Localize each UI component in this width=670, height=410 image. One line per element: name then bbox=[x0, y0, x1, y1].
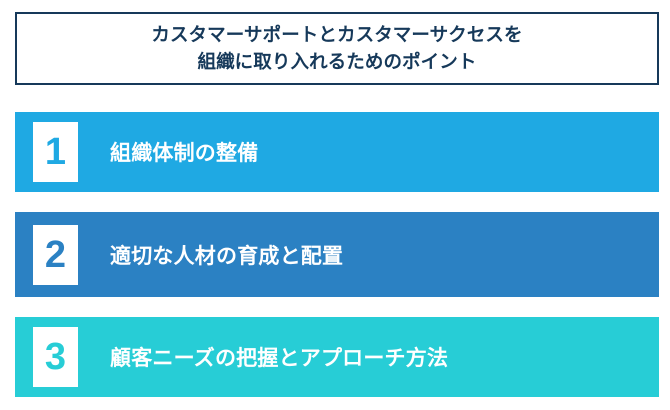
point-row-1: 1 組織体制の整備 bbox=[15, 112, 659, 192]
point-row-3: 3 顧客ニーズの把握とアプローチ方法 bbox=[15, 317, 659, 397]
page-title: カスタマーサポートとカスタマーサクセスを 組織に取り入れるためのポイント bbox=[151, 22, 522, 76]
point-number-1: 1 bbox=[45, 133, 66, 171]
infographic-canvas: カスタマーサポートとカスタマーサクセスを 組織に取り入れるためのポイント 1 組… bbox=[0, 0, 670, 410]
point-label-1: 組織体制の整備 bbox=[110, 137, 258, 167]
point-number-3: 3 bbox=[45, 338, 66, 376]
point-number-box-2: 2 bbox=[33, 225, 78, 285]
point-row-2: 2 適切な人材の育成と配置 bbox=[15, 212, 659, 297]
point-number-box-1: 1 bbox=[33, 122, 78, 182]
point-label-2: 適切な人材の育成と配置 bbox=[110, 240, 343, 270]
point-label-3: 顧客ニーズの把握とアプローチ方法 bbox=[110, 342, 448, 372]
point-number-2: 2 bbox=[45, 236, 66, 274]
point-number-box-3: 3 bbox=[33, 327, 78, 387]
header-box: カスタマーサポートとカスタマーサクセスを 組織に取り入れるためのポイント bbox=[15, 12, 659, 85]
